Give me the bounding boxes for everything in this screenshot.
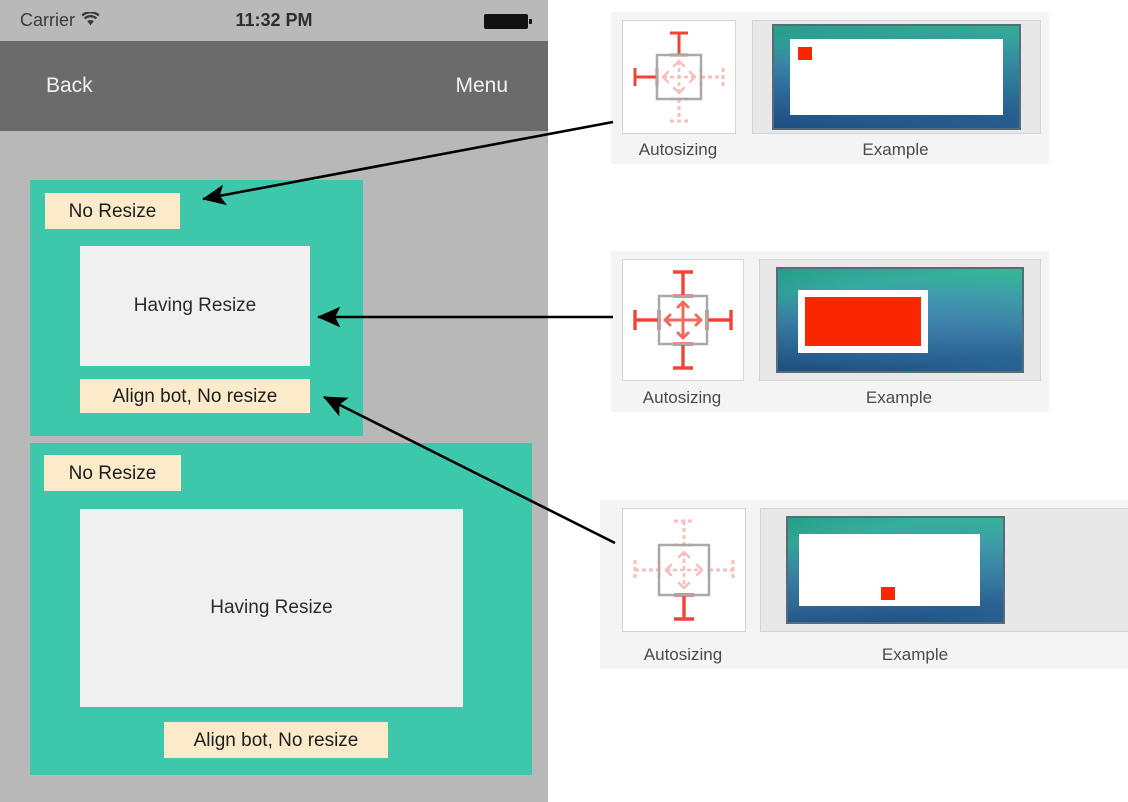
status-bar: Carrier 11:32 PM — [0, 0, 548, 41]
teal-panel-large: No Resize Having Resize Align bot, No re… — [30, 443, 532, 775]
autosizing-widget-2[interactable] — [622, 259, 744, 381]
springs-and-struts-diagram — [623, 260, 743, 380]
autosizing-widget-1[interactable] — [622, 20, 736, 134]
autosizing-label-2: Autosizing — [615, 388, 749, 408]
example-label-1: Example — [752, 140, 1039, 160]
phone-screen: Carrier 11:32 PM Back Menu No Resize Hav… — [0, 0, 548, 802]
example-wallpaper-1 — [753, 21, 1040, 133]
example-preview-1 — [752, 20, 1041, 134]
reference-row-3: Autosizing — [600, 500, 1128, 669]
tag-align-bottom-no-resize: Align bot, No resize — [164, 722, 388, 758]
content-having-resize: Having Resize — [80, 509, 463, 707]
reference-row-2: Autosizing — [611, 251, 1049, 412]
example-wallpaper-2 — [760, 260, 1040, 380]
autosizing-widget-3[interactable] — [622, 508, 746, 632]
autosizing-label-3: Autosizing — [615, 645, 751, 665]
navigation-bar: Back Menu — [0, 41, 548, 131]
tag-no-resize-top: No Resize — [45, 193, 180, 229]
battery-full-icon — [484, 14, 528, 29]
clock-label: 11:32 PM — [0, 10, 548, 31]
springs-and-struts-diagram — [623, 509, 745, 631]
example-preview-3 — [760, 508, 1128, 632]
content-having-resize: Having Resize — [80, 246, 310, 366]
reference-row-1: Autosizing — [611, 12, 1049, 164]
example-label-2: Example — [759, 388, 1039, 408]
example-preview-2 — [759, 259, 1041, 381]
example-wallpaper-3 — [761, 509, 1128, 631]
teal-panel-small: No Resize Having Resize Align bot, No re… — [30, 180, 363, 436]
tag-align-bottom-no-resize: Align bot, No resize — [80, 379, 310, 413]
example-label-3: Example — [760, 645, 1070, 665]
autosizing-label-1: Autosizing — [615, 140, 741, 160]
back-button[interactable]: Back — [46, 74, 93, 98]
springs-and-struts-diagram — [623, 21, 735, 133]
tag-no-resize-top: No Resize — [44, 455, 181, 491]
menu-button[interactable]: Menu — [455, 74, 508, 98]
